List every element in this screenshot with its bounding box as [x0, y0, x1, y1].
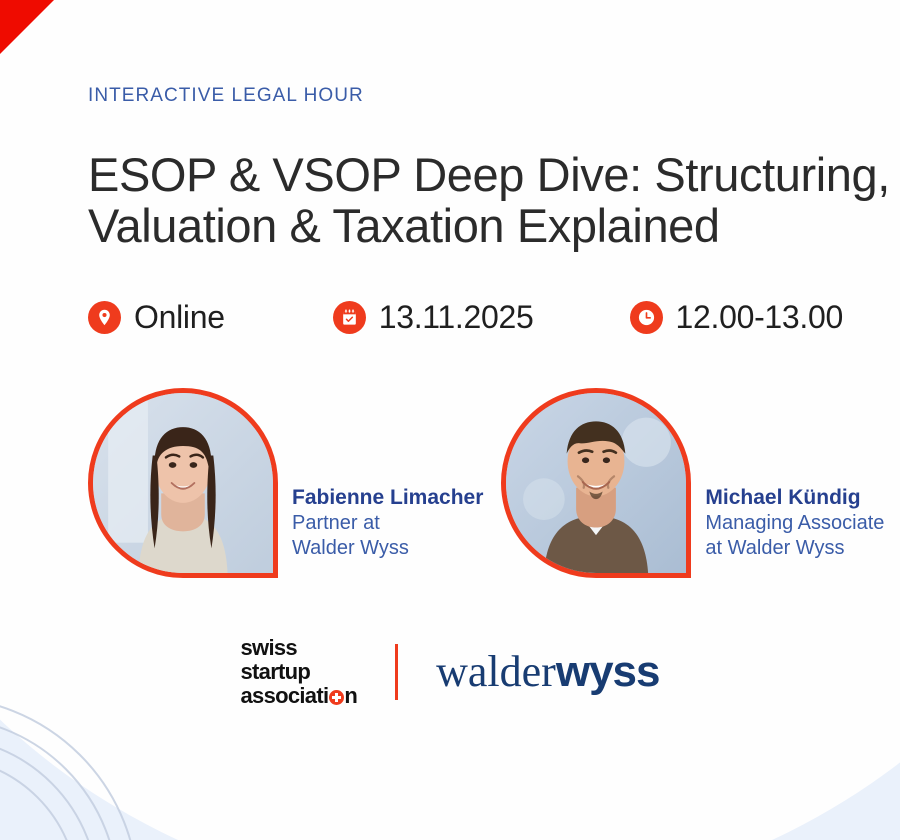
meta-item-location: Online — [88, 299, 225, 336]
ssa-logo-line-3-suffix: n — [344, 683, 357, 708]
title-line-2: Valuation & Taxation Explained — [88, 200, 900, 251]
walder-wyss-logo-part-1: walder — [436, 647, 556, 696]
avatar — [88, 388, 278, 578]
ssa-logo-line-2: startup — [241, 660, 358, 684]
clock-icon — [630, 301, 663, 334]
speaker-info: Fabienne Limacher Partner at Walder Wyss — [278, 485, 483, 579]
speaker-card: Fabienne Limacher Partner at Walder Wyss — [88, 388, 483, 578]
speaker-role-line-2: Walder Wyss — [292, 536, 483, 561]
speaker-name: Fabienne Limacher — [292, 485, 483, 511]
calendar-icon — [333, 301, 366, 334]
logo-divider — [395, 644, 398, 700]
ssa-logo-line-3-prefix: associati — [241, 683, 329, 708]
meta-label-time: 12.00-13.00 — [676, 299, 844, 336]
walder-wyss-logo: walderwyss — [436, 650, 659, 694]
meta-label-date: 13.11.2025 — [379, 299, 534, 336]
meta-label-location: Online — [134, 299, 225, 336]
speaker-info: Michael Kündig Managing Associate at Wal… — [691, 485, 884, 579]
speaker-role-line-1: Partner at — [292, 511, 483, 536]
meta-item-time: 12.00-13.00 — [630, 299, 844, 336]
meta-item-date: 13.11.2025 — [333, 299, 534, 336]
location-pin-icon — [88, 301, 121, 334]
speaker-card: Michael Kündig Managing Associate at Wal… — [501, 388, 884, 578]
walder-wyss-logo-part-2: wyss — [556, 647, 660, 696]
poster-content: INTERACTIVE LEGAL HOUR ESOP & VSOP Deep … — [0, 0, 900, 708]
speakers-row: Fabienne Limacher Partner at Walder Wyss — [88, 336, 900, 578]
event-poster: INTERACTIVE LEGAL HOUR ESOP & VSOP Deep … — [0, 0, 900, 840]
page-title: ESOP & VSOP Deep Dive: Structuring,Valua… — [88, 107, 900, 251]
avatar — [501, 388, 691, 578]
speaker-role-line-1: Managing Associate — [705, 511, 884, 536]
speaker-role-line-2: at Walder Wyss — [705, 536, 884, 561]
event-meta-row: Online 13.11.2025 — [88, 251, 900, 336]
swiss-cross-icon — [329, 690, 344, 705]
ssa-logo-line-1: swiss — [241, 636, 358, 660]
speaker-name: Michael Kündig — [705, 485, 884, 511]
ssa-logo-line-3: associatin — [241, 684, 358, 708]
eyebrow-label: INTERACTIVE LEGAL HOUR — [88, 0, 900, 107]
title-line-1: ESOP & VSOP Deep Dive: Structuring, — [88, 148, 890, 201]
swiss-startup-association-logo: swiss startup associatin — [241, 636, 358, 707]
logos-row: swiss startup associatin walderwyss — [88, 578, 900, 707]
